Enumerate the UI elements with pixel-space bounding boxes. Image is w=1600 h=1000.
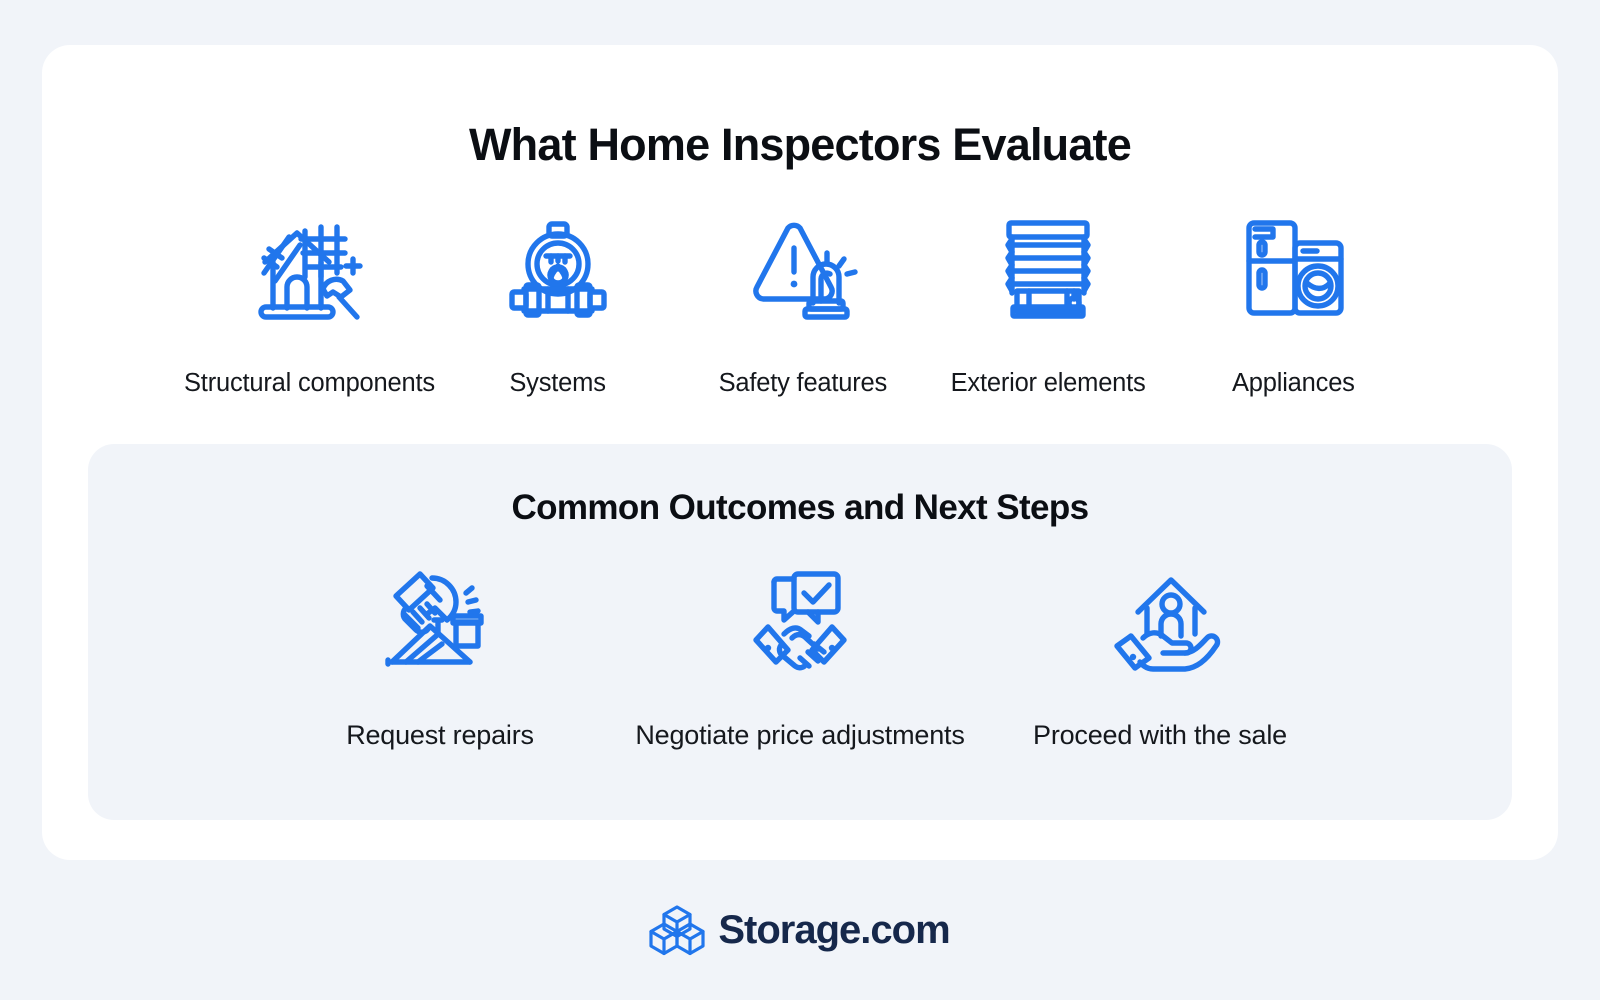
three-cubes-icon bbox=[650, 905, 704, 955]
infographic-page: What Home Inspectors Evaluate bbox=[0, 0, 1600, 1000]
warning-triangle-alarm-icon bbox=[747, 213, 859, 323]
evaluate-items-row: Structural components bbox=[88, 181, 1512, 398]
evaluate-item-label: Safety features bbox=[719, 369, 888, 398]
hand-hammer-roof-icon bbox=[384, 562, 496, 672]
window-blinds-icon bbox=[995, 213, 1101, 323]
house-scaffolding-hammer-icon bbox=[253, 213, 365, 323]
outcome-item-label: Negotiate price adjustments bbox=[635, 720, 964, 751]
evaluate-item: Systems bbox=[435, 213, 680, 398]
main-card: What Home Inspectors Evaluate bbox=[42, 45, 1558, 860]
outcomes-title: Common Outcomes and Next Steps bbox=[128, 488, 1472, 528]
outcome-item: Negotiate price adjustments bbox=[620, 562, 980, 751]
refrigerator-washer-icon bbox=[1239, 213, 1347, 323]
evaluate-item: Safety features bbox=[680, 213, 925, 398]
evaluate-item: Structural components bbox=[184, 213, 435, 398]
outcome-item: Proceed with the sale bbox=[980, 562, 1340, 751]
evaluate-item-label: Appliances bbox=[1232, 369, 1355, 398]
logo-text: Storage.com bbox=[718, 908, 949, 953]
outcome-item-label: Request repairs bbox=[346, 720, 534, 751]
handshake-chat-check-icon bbox=[744, 562, 856, 672]
evaluate-item-label: Systems bbox=[509, 369, 605, 398]
outcomes-items-row: Request repairs bbox=[128, 528, 1472, 751]
outcome-item-label: Proceed with the sale bbox=[1033, 720, 1287, 751]
evaluate-item: Exterior elements bbox=[925, 213, 1170, 398]
outcome-item: Request repairs bbox=[260, 562, 620, 751]
page-title: What Home Inspectors Evaluate bbox=[88, 119, 1512, 171]
footer: Storage.com bbox=[42, 860, 1558, 1000]
evaluate-item: Appliances bbox=[1171, 213, 1416, 398]
outcomes-panel: Common Outcomes and Next Steps bbox=[88, 444, 1512, 820]
water-meter-pipe-icon bbox=[504, 213, 612, 323]
evaluate-item-label: Exterior elements bbox=[951, 369, 1146, 398]
hand-holding-house-icon bbox=[1105, 562, 1215, 672]
evaluate-item-label: Structural components bbox=[184, 369, 435, 398]
